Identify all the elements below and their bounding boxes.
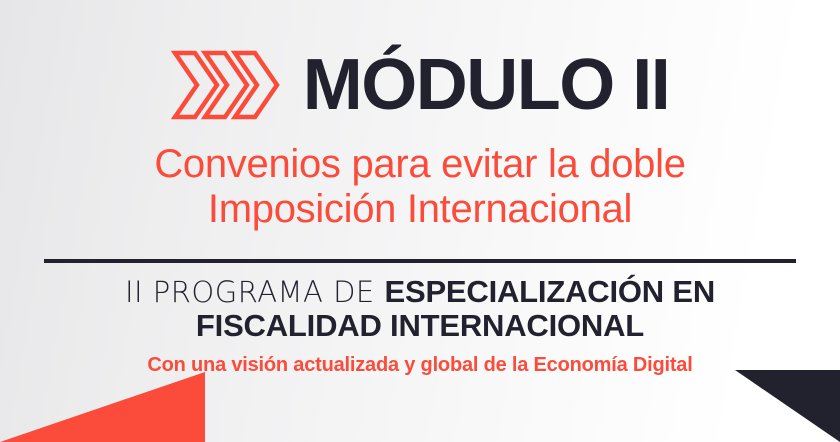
tagline: Con una visión actualizada y global de l… — [147, 354, 692, 377]
module-heading-row: MÓDULO II — [171, 45, 669, 125]
program-line-2: FISCALIDAD INTERNACIONAL — [125, 309, 715, 344]
program-block: II PROGRAMA DE ESPECIALIZACIÓN EN FISCAL… — [125, 275, 715, 344]
page-title: MÓDULO II — [303, 49, 669, 121]
course-title: Convenios para evitar la doble Imposició… — [154, 142, 685, 232]
triple-chevron-right-icon — [171, 49, 281, 121]
divider-rule — [44, 259, 796, 263]
program-prefix-text: II PROGRAMA DE — [125, 275, 385, 309]
promo-banner: MÓDULO II Convenios para evitar la doble… — [0, 0, 840, 442]
program-emphasis-text: ESPECIALIZACIÓN EN — [384, 274, 715, 309]
banner-content: MÓDULO II Convenios para evitar la doble… — [0, 0, 840, 442]
program-line-1: II PROGRAMA DE ESPECIALIZACIÓN EN — [125, 275, 715, 310]
